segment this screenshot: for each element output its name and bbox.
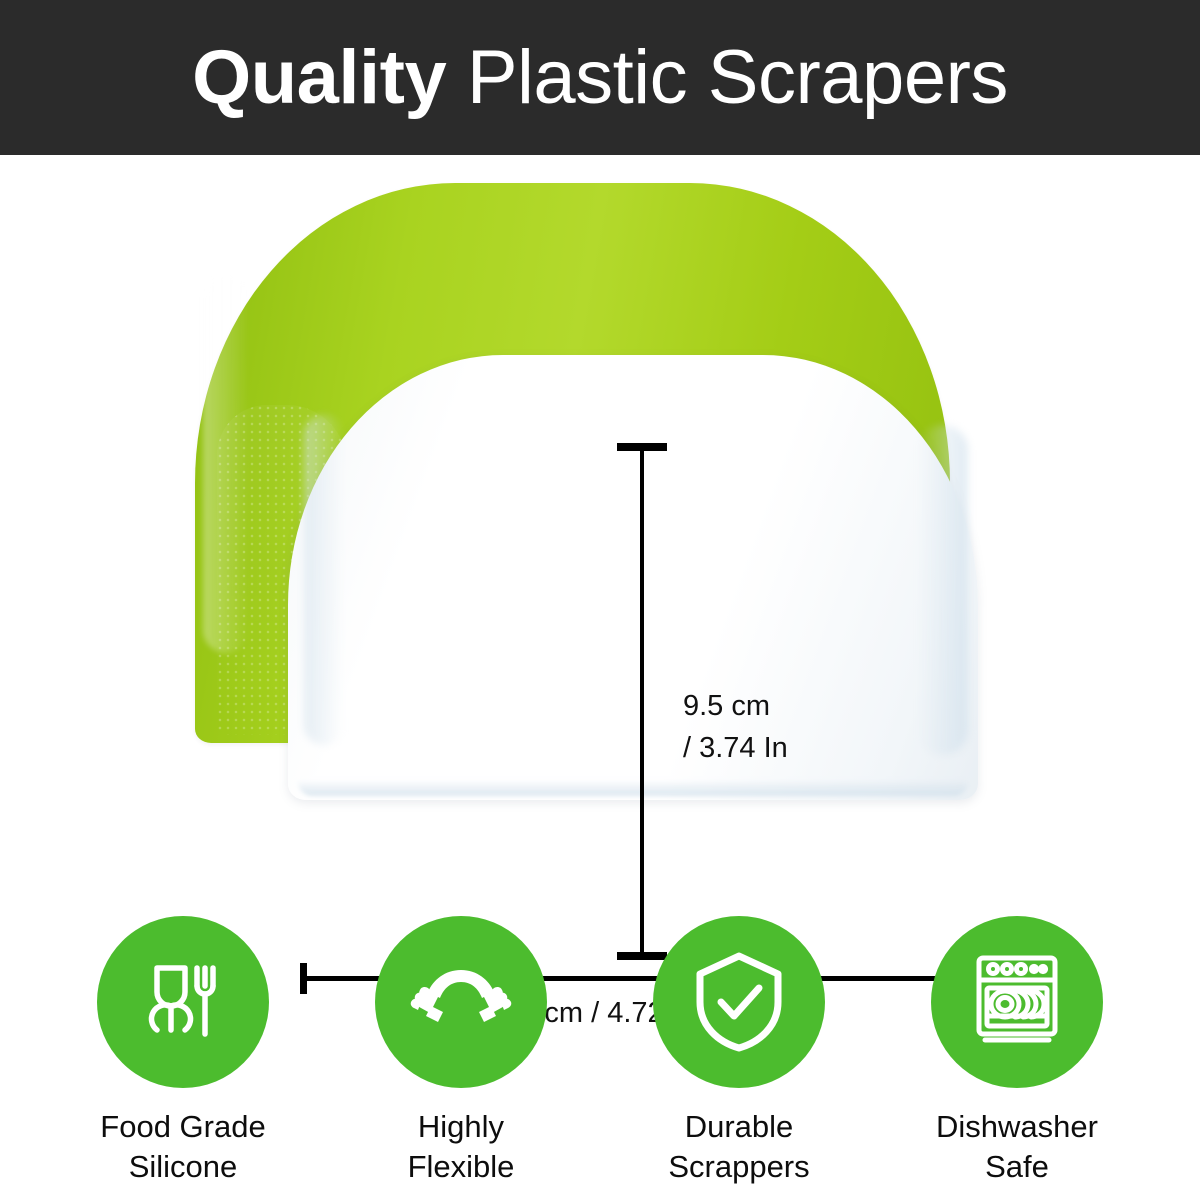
hands-bending-flexible-object-icon [409,962,513,1042]
product-image-stage: 9.5 cm / 3.74 In 12 cm / 4.72 In [0,155,1200,900]
feature-item-food-grade: Food Grade Silicone [58,916,308,1186]
product-infographic: Quality Plastic Scrapers 9.5 cm / 3.74 I… [0,0,1200,1189]
feature-item-highly-flexible: Highly Flexible [336,916,586,1186]
feature-label-highly-flexible: Highly Flexible [408,1107,515,1186]
feature-label-dishwasher-safe: Dishwasher Safe [936,1107,1098,1186]
wine-glass-and-fork-icon [135,954,231,1050]
feature-circle-durable [653,916,825,1088]
white-scraper-highlight-right [918,425,968,755]
white-scraper-bottom-edge [298,780,968,796]
feature-label-food-grade: Food Grade Silicone [100,1107,265,1186]
feature-circle-dishwasher-safe [931,916,1103,1088]
page-title: Quality Plastic Scrapers [192,40,1008,116]
height-dimension-cm: 9.5 cm [683,685,788,727]
height-dimension-line [640,443,644,960]
page-title-strong: Quality [192,35,446,120]
feature-label-durable: Durable Scrappers [668,1107,809,1186]
green-scraper-highlight [203,273,249,653]
shield-with-checkmark-icon [690,950,788,1054]
height-dimension-label: 9.5 cm / 3.74 In [683,685,788,769]
height-dimension-in: / 3.74 In [683,727,788,769]
white-scraper-product [288,355,978,800]
feature-row: Food Grade Silicone [0,916,1200,1189]
feature-item-dishwasher-safe: Dishwasher Safe [892,916,1142,1186]
header-banner: Quality Plastic Scrapers [0,0,1200,155]
white-scraper-highlight-left [304,415,344,745]
feature-circle-food-grade [97,916,269,1088]
height-dimension-cap-top [617,443,667,451]
feature-item-durable: Durable Scrappers [614,916,864,1186]
page-title-light: Plastic Scrapers [446,35,1008,120]
dishwasher-machine-icon [969,952,1065,1052]
feature-circle-highly-flexible [375,916,547,1088]
